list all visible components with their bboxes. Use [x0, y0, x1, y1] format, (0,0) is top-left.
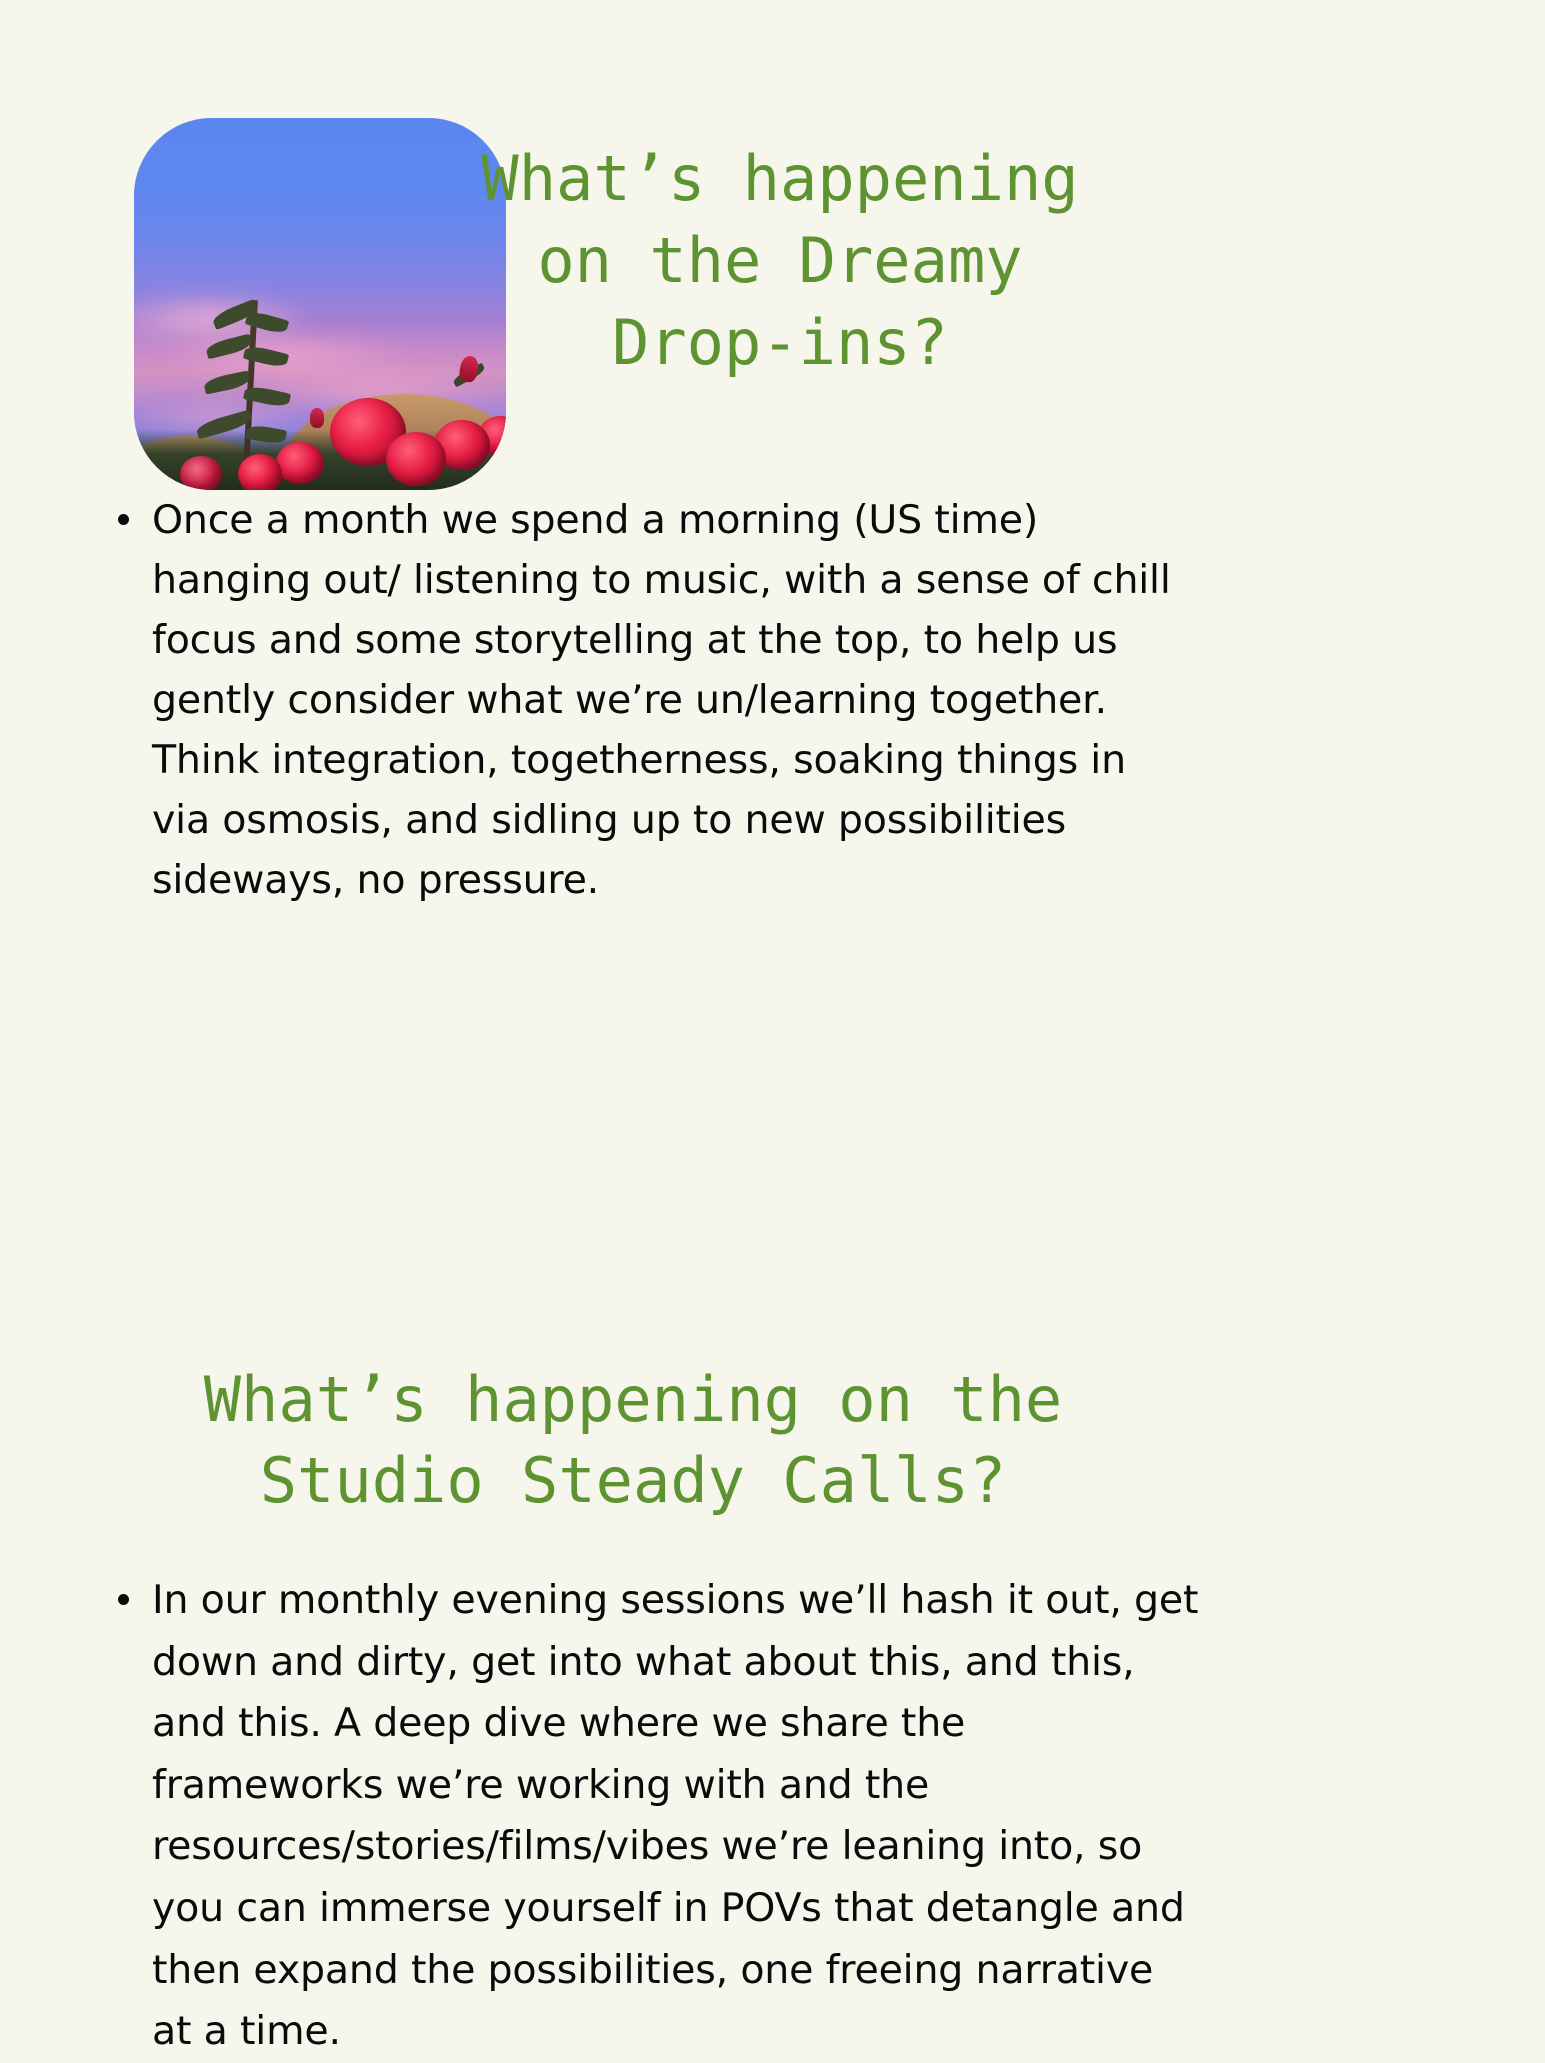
section-heading-studio-steady-calls: What’s happening on the Studio Steady Ca… — [108, 1360, 1158, 1521]
page-root: What’s happening on the Dreamy Drop-ins?… — [0, 0, 1545, 2000]
list-item: In our monthly evening sessions we’ll ha… — [110, 1570, 1200, 2063]
red-rose — [276, 442, 324, 484]
red-rose — [180, 456, 222, 490]
list-item: Once a month we spend a morning (US time… — [110, 490, 1180, 910]
page-title: What’s happening on the Dreamy Drop-ins? — [420, 138, 1140, 383]
section-dreamy-drop-ins: Once a month we spend a morning (US time… — [110, 490, 1180, 910]
red-rose — [238, 454, 282, 490]
bullet-list: In our monthly evening sessions we’ll ha… — [110, 1570, 1200, 2063]
rose-bud — [310, 408, 324, 428]
section-studio-steady-calls: In our monthly evening sessions we’ll ha… — [110, 1570, 1200, 2063]
red-rose — [386, 432, 446, 486]
bullet-list: Once a month we spend a morning (US time… — [110, 490, 1180, 910]
hero-header: What’s happening on the Dreamy Drop-ins? — [0, 118, 1545, 418]
